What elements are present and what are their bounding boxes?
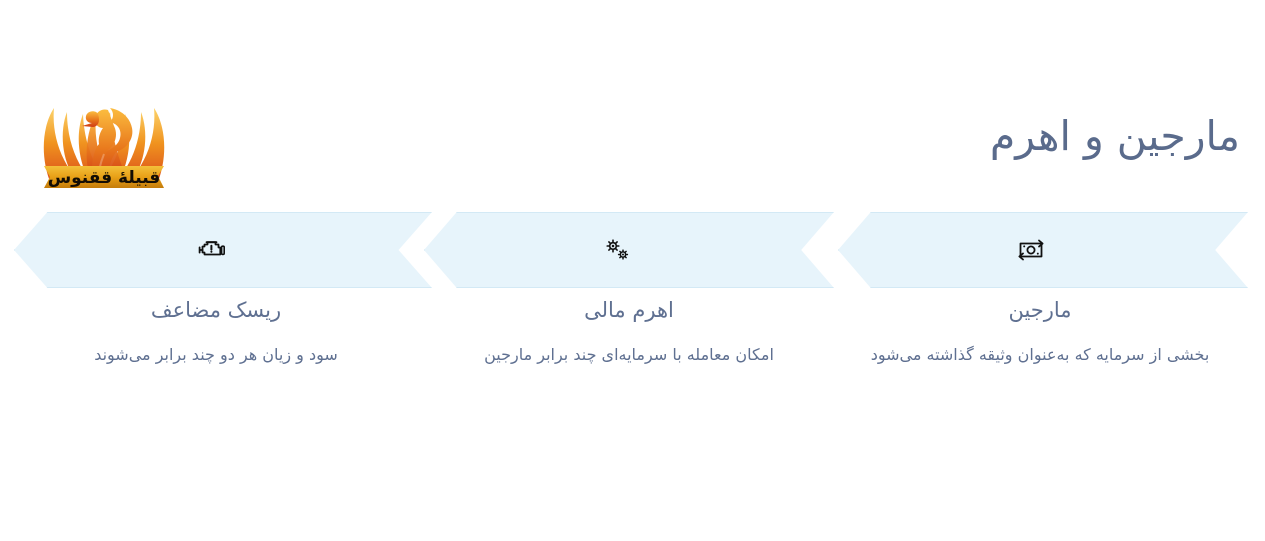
step-desc-margin: بخشی از سرمایه که به‌عنوان وثیقه گذاشته … [838, 343, 1242, 367]
step-column-margin: مارجین بخشی از سرمایه که به‌عنوان وثیقه … [838, 296, 1242, 367]
check-engine-warning-icon [194, 233, 228, 267]
step-title-risk: ریسک مضاعف [14, 296, 418, 325]
page-title: مارجین و اهرم [990, 112, 1240, 161]
step-desc-leverage: امکان معامله با سرمایه‌ای چند برابر مارج… [424, 343, 834, 367]
step-column-risk: ریسک مضاعف سود و زیان هر دو چند برابر می… [14, 296, 418, 367]
chevron-step-leverage[interactable] [424, 212, 834, 288]
slide-header: قبیلهٔ ققنوس مارجین و اهرم [0, 0, 1265, 212]
step-title-leverage: اهرم مالی [424, 296, 834, 325]
chevron-step-margin[interactable] [838, 212, 1248, 288]
banknote-exchange-icon [1014, 233, 1048, 267]
chevron-step-risk[interactable] [14, 212, 432, 288]
steps-text-row: مارجین بخشی از سرمایه که به‌عنوان وثیقه … [0, 296, 1265, 406]
phoenix-tribe-logo: قبیلهٔ ققنوس [38, 66, 170, 192]
logo-ribbon-text: قبیلهٔ ققنوس [48, 168, 161, 188]
step-column-leverage: اهرم مالی امکان معامله با سرمایه‌ای چند … [424, 296, 834, 367]
step-desc-risk: سود و زیان هر دو چند برابر می‌شوند [14, 343, 418, 367]
step-title-margin: مارجین [838, 296, 1242, 325]
gears-icon [600, 233, 634, 267]
slide-root: قبیلهٔ ققنوس مارجین و اهرم [0, 0, 1265, 541]
chevron-band [0, 212, 1265, 288]
